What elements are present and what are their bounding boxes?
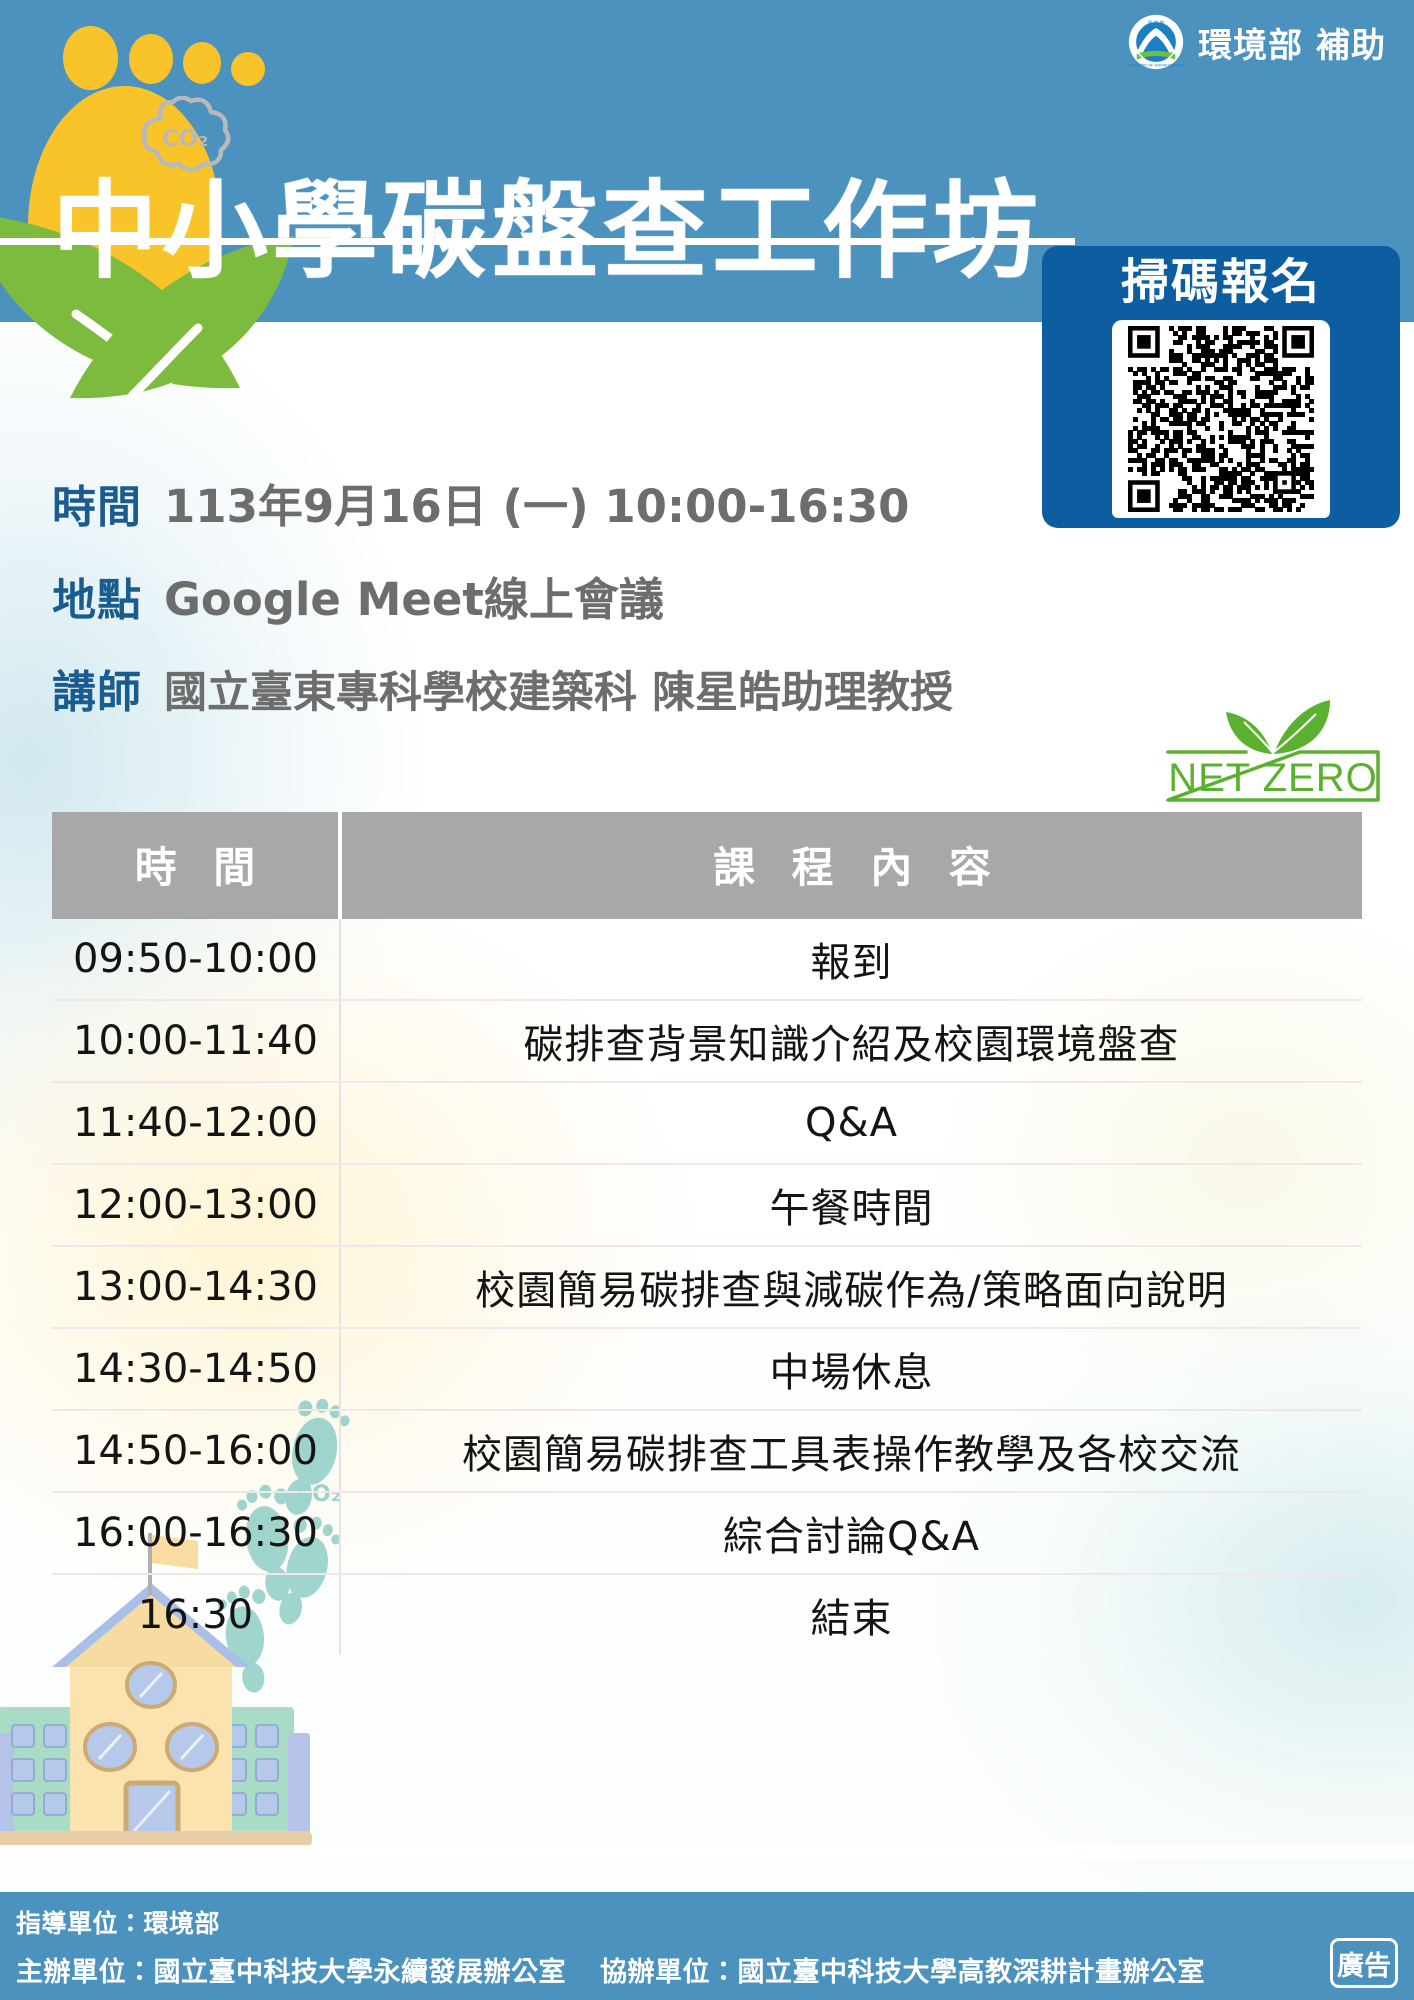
table-row: 16:00-16:30綜合討論Q&A [52,1492,1362,1574]
cell-content: 碳排查背景知識介紹及校園環境盤查 [340,1000,1362,1082]
content-bottom-sheen [0,1845,1414,1859]
svg-text:MINISTRY OF ENVIRONMENT: MINISTRY OF ENVIRONMENT [1129,63,1184,68]
qr-registration-panel[interactable]: 掃碼報名 [1042,246,1400,528]
ministry-of-environment-seal-icon: 環 境 部 MINISTRY OF ENVIRONMENT [1128,14,1184,70]
poster-root: CO₂ 環 境 部 MINISTRY OF ENVIRONMENT 環境部 補助… [0,0,1414,2000]
column-header-time: 時 間 [52,812,340,919]
footer-advisor-unit: 指導單位：環境部 [16,1904,220,1940]
footprint-toe-icon [63,26,118,90]
svg-text:CO₂: CO₂ [162,126,209,152]
info-label-time: 時間 [52,471,142,535]
cell-time: 14:50-16:00 [52,1410,340,1492]
net-zero-badge: NET ZERO [1160,690,1386,808]
net-zero-label: NET ZERO [1168,756,1378,800]
ministry-logo-lockup: 環 境 部 MINISTRY OF ENVIRONMENT 環境部 補助 [1128,14,1386,70]
cell-time: 14:30-14:50 [52,1328,340,1410]
cell-time: 09:50-10:00 [52,919,340,1000]
cell-time: 11:40-12:00 [52,1082,340,1164]
event-info-block: 時間 113年9月16日 (一) 10:00-16:30 地點 Google M… [52,470,953,720]
table-row: 14:30-14:50中場休息 [52,1328,1362,1410]
footer-units-row: 主辦單位：國立臺中科技大學永續發展辦公室 協辦單位：國立臺中科技大學高教深耕計畫… [16,1950,1205,1989]
info-value-location: Google Meet線上會議 [164,563,664,628]
footprint-toe-icon [231,52,265,86]
footprint-toe-icon [183,42,221,84]
table-row: 11:40-12:00Q&A [52,1082,1362,1164]
info-value-time: 113年9月16日 (一) 10:00-16:30 [164,470,910,535]
qr-code-image[interactable] [1128,326,1314,512]
footer-organizer: 主辦單位：國立臺中科技大學永續發展辦公室 [16,1950,566,1989]
cell-content: 結束 [340,1574,1362,1655]
cell-time: 12:00-13:00 [52,1164,340,1246]
cell-time: 13:00-14:30 [52,1246,340,1328]
footer-coorganizer: 協辦單位：國立臺中科技大學高教深耕計畫辦公室 [600,1950,1205,1989]
footer-bar: 指導單位：環境部 主辦單位：國立臺中科技大學永續發展辦公室 協辦單位：國立臺中科… [0,1892,1414,2000]
cell-time: 16:30 [52,1574,340,1655]
table-row: 14:50-16:00校園簡易碳排查工具表操作教學及各校交流 [52,1410,1362,1492]
table-header-row: 時 間 課 程 內 容 [52,812,1362,919]
cell-content: 中場休息 [340,1328,1362,1410]
cell-content: Q&A [340,1082,1362,1164]
column-header-content: 課 程 內 容 [340,812,1362,919]
footprint-toe-icon [129,34,173,84]
table-row: 09:50-10:00報到 [52,919,1362,1000]
table-row: 10:00-11:40碳排查背景知識介紹及校園環境盤查 [52,1000,1362,1082]
info-value-instructor: 國立臺東專科學校建築科 陳星皓助理教授 [164,658,953,720]
cell-content: 校園簡易碳排查與減碳作為/策略面向說明 [340,1246,1362,1328]
cell-content: 報到 [340,919,1362,1000]
net-zero-leaf-icon: NET ZERO [1160,690,1386,808]
ad-badge: 廣告 [1330,1938,1398,1988]
table-row: 12:00-13:00午餐時間 [52,1164,1362,1246]
ministry-label: 環境部 補助 [1198,18,1386,67]
cell-time: 10:00-11:40 [52,1000,340,1082]
info-row-time: 時間 113年9月16日 (一) 10:00-16:30 [52,470,953,535]
info-row-location: 地點 Google Meet線上會議 [52,563,953,628]
table-row: 13:00-14:30校園簡易碳排查與減碳作為/策略面向說明 [52,1246,1362,1328]
qr-panel-title: 掃碼報名 [1042,254,1400,311]
schedule-table: 時 間 課 程 內 容 09:50-10:00報到10:00-11:40碳排查背… [52,812,1362,1655]
page-title: 中小學碳盤查工作坊 [52,179,1042,285]
qr-code-card[interactable] [1112,320,1330,518]
cell-time: 16:00-16:30 [52,1492,340,1574]
schedule-table-body: 09:50-10:00報到10:00-11:40碳排查背景知識介紹及校園環境盤查… [52,919,1362,1655]
cell-content: 午餐時間 [340,1164,1362,1246]
table-row: 16:30結束 [52,1574,1362,1655]
co2-cloud-icon: CO₂ [133,96,238,178]
info-label-instructor: 講師 [52,656,142,720]
info-row-instructor: 講師 國立臺東專科學校建築科 陳星皓助理教授 [52,656,953,720]
info-label-location: 地點 [52,564,142,628]
cell-content: 校園簡易碳排查工具表操作教學及各校交流 [340,1410,1362,1492]
cell-content: 綜合討論Q&A [340,1492,1362,1574]
